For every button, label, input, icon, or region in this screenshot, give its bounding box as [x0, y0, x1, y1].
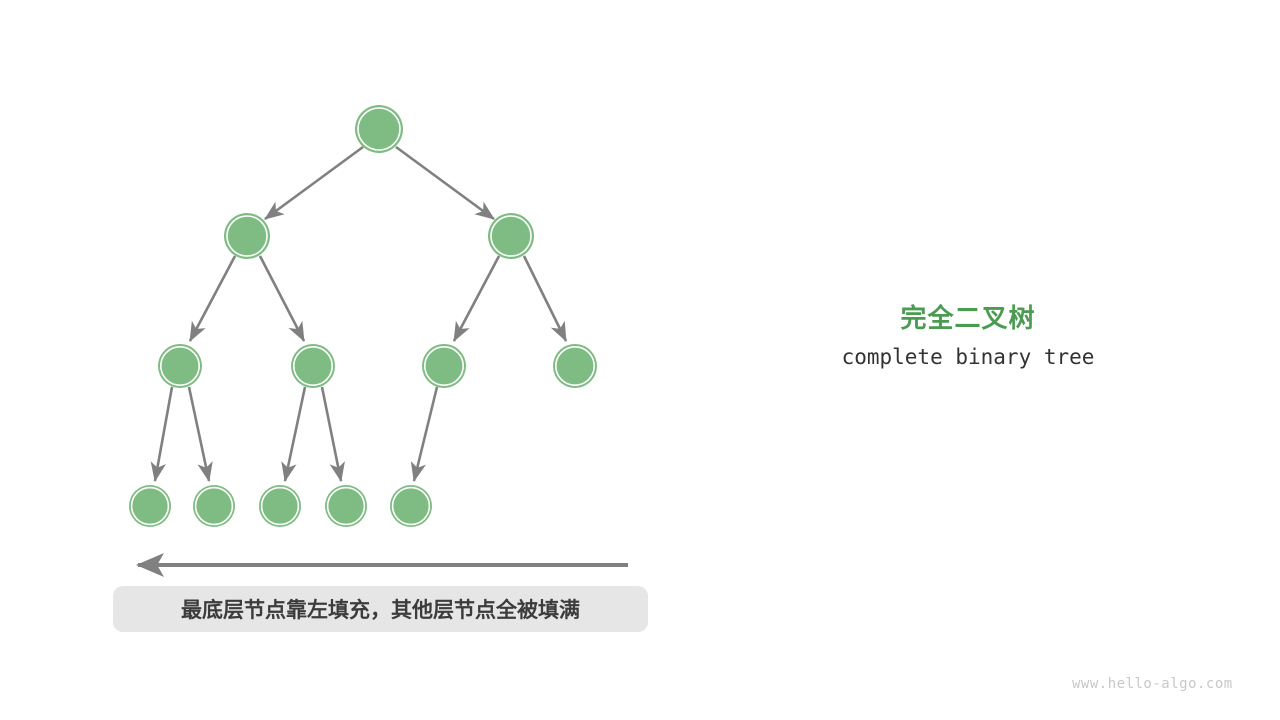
edge-n0-n1: [265, 147, 363, 219]
tree-edges: [155, 147, 566, 481]
figure-title-en: complete binary tree: [768, 345, 1168, 369]
caption-box: 最底层节点靠左填充，其他层节点全被填满: [113, 586, 648, 632]
edge-n2-n5: [454, 256, 499, 341]
tree-node-level4-5[interactable]: [390, 485, 432, 527]
tree-node-level4-3[interactable]: [259, 485, 301, 527]
edge-n0-n2: [396, 147, 494, 219]
edge-n2-n6: [524, 256, 566, 341]
tree-node-level2-left[interactable]: [224, 213, 270, 259]
edge-n1-n3: [190, 256, 235, 341]
edge-n4-n9: [285, 387, 305, 481]
tree-node-level4-4[interactable]: [325, 485, 367, 527]
diagram-stage: 完全二叉树 complete binary tree 最底层节点靠左填充，其他层…: [0, 0, 1280, 720]
tree-node-level3-4[interactable]: [553, 344, 597, 388]
edge-n5-n11: [414, 387, 437, 481]
edge-n3-n7: [155, 387, 172, 481]
edge-n4-n10: [322, 387, 341, 481]
tree-node-root[interactable]: [355, 105, 403, 153]
tree-node-level4-2[interactable]: [193, 485, 235, 527]
edge-n1-n4: [260, 256, 304, 341]
tree-node-level3-1[interactable]: [158, 344, 202, 388]
tree-node-level3-3[interactable]: [422, 344, 466, 388]
edge-n3-n8: [189, 387, 209, 481]
tree-node-level4-1[interactable]: [129, 485, 171, 527]
tree-nodes: [129, 105, 597, 527]
tree-node-level2-right[interactable]: [488, 213, 534, 259]
tree-node-level3-2[interactable]: [291, 344, 335, 388]
watermark: www.hello-algo.com: [1072, 676, 1233, 692]
figure-title-cn: 完全二叉树: [768, 298, 1168, 335]
caption-text: 最底层节点靠左填充，其他层节点全被填满: [181, 594, 580, 624]
